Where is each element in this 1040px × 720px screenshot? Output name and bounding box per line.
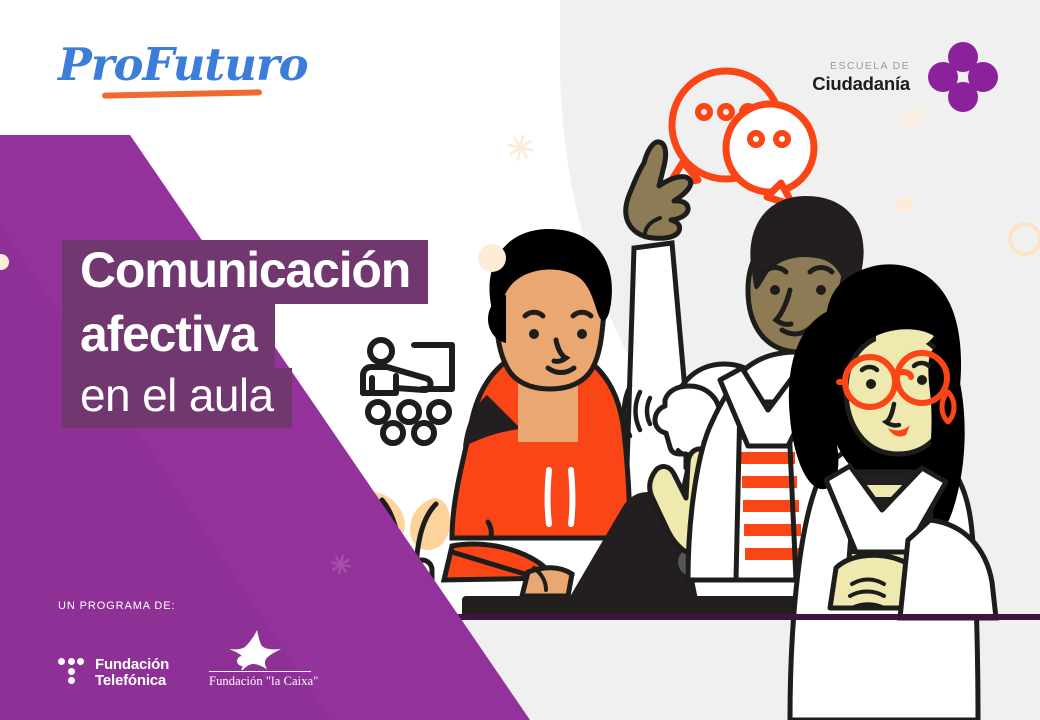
footer: UN PROGRAMA DE: Fundación Telefónica [58,600,378,689]
speech-bubble-small-icon [726,104,814,205]
page-title: Comunicación afectiva en el aula [62,240,428,428]
telefonica-dot-1 [58,658,65,665]
poster-root: ✳ ✳ ✳ ProFuturo ESCUELA DE Ciudadanía Co… [0,0,1040,720]
la-caixa-caption: Fundación "la Caixa" [209,674,311,689]
ciudadania-text-block: ESCUELA DE Ciudadanía [812,60,910,95]
ciudadania-flower-icon [928,42,998,112]
coat-sleeve-right [900,520,996,618]
decoration-dot-1 [478,244,506,272]
person-orange-hoodie [444,229,630,596]
fundacion-telefonica-logo[interactable]: Fundación Telefónica [58,657,169,689]
profuturo-logo[interactable]: ProFuturo [58,38,288,102]
la-caixa-star-icon [209,630,311,670]
escuela-ciudadania-logo[interactable]: ESCUELA DE Ciudadanía [812,42,998,112]
title-line-1: Comunicación [62,240,428,304]
title-line-3: en el aula [62,368,292,428]
telefonica-dot-3 [77,658,84,665]
decoration-dot-2 [897,196,914,213]
person-glasses-coat [789,264,978,720]
flower-circle-bottom [948,82,978,112]
telefonica-dot-2 [68,658,75,665]
footer-label: UN PROGRAMA DE: [58,600,378,612]
title-line-2: afectiva [62,304,275,368]
la-caixa-divider [209,671,311,672]
ciudadania-superline: ESCUELA DE [812,60,910,73]
telefonica-line-2: Telefónica [95,673,169,689]
telefonica-line-1: Fundación [95,657,169,673]
decoration-ring-1 [1008,222,1040,256]
fundacion-la-caixa-logo[interactable]: Fundación "la Caixa" [209,630,311,689]
footer-logos: Fundación Telefónica Fundación "la Caixa… [58,630,378,689]
telefonica-dots-icon [58,658,84,688]
profuturo-wordmark: ProFuturo [58,38,288,92]
telefonica-wordmark: Fundación Telefónica [95,657,169,689]
ciudadania-name: Ciudadanía [812,73,910,95]
telefonica-dot-5 [68,677,75,684]
telefonica-dot-4 [68,668,75,675]
